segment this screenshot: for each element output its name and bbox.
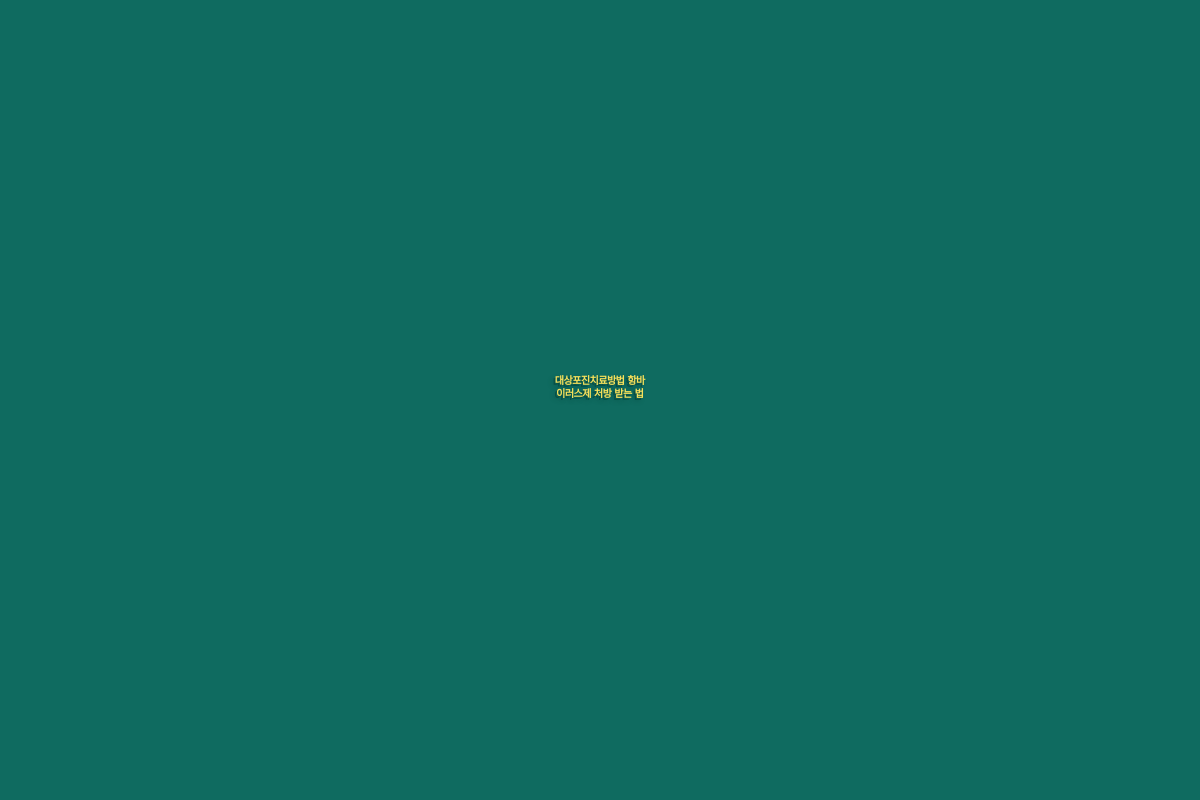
title-line-2: 이러스제 처방 받는 법 [0, 388, 1200, 401]
title-text-block: 대상포진치료방법 항바 이러스제 처방 받는 법 [0, 375, 1200, 401]
title-line-1: 대상포진치료방법 항바 [0, 375, 1200, 388]
thumbnail-card: 대상포진치료방법 항바 이러스제 처방 받는 법 [0, 0, 1200, 800]
